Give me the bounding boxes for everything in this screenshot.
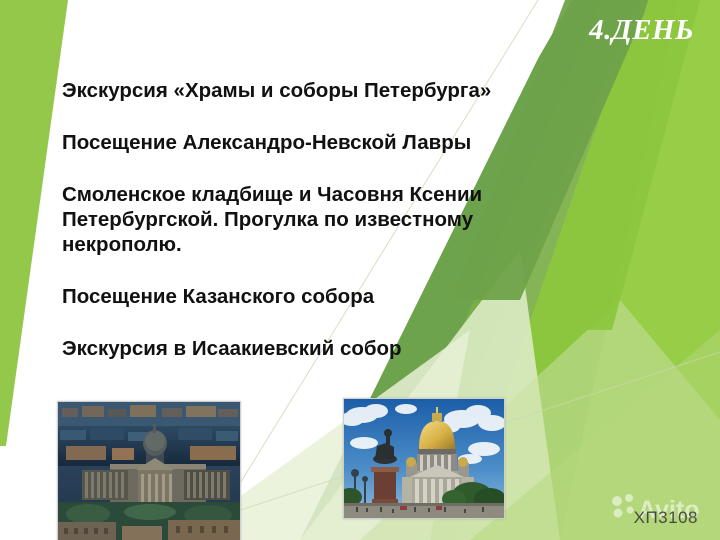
body-paragraph-4: Посещение Казанского собора: [62, 284, 582, 309]
slide-title: 4.ДЕНЬ: [589, 14, 694, 47]
photo-kazan-cathedral-aerial: [57, 401, 241, 540]
slide-body-text: Экскурсия «Храмы и соборы Петербурга» По…: [62, 78, 582, 361]
watermark-code: ХП3108: [634, 508, 698, 528]
body-paragraph-1: Экскурсия «Храмы и соборы Петербурга»: [62, 78, 582, 103]
body-paragraph-5: Экскурсия в Исаакиевский собор: [62, 336, 582, 361]
presentation-slide: 4.ДЕНЬ Экскурсия «Храмы и соборы Петербу…: [0, 0, 720, 540]
body-paragraph-3: Смоленское кладбище и Часовня Ксении Пет…: [62, 182, 582, 257]
photo-saint-isaac-cathedral: [343, 398, 505, 519]
body-paragraph-2: Посещение Александро-Невской Лавры: [62, 130, 582, 155]
